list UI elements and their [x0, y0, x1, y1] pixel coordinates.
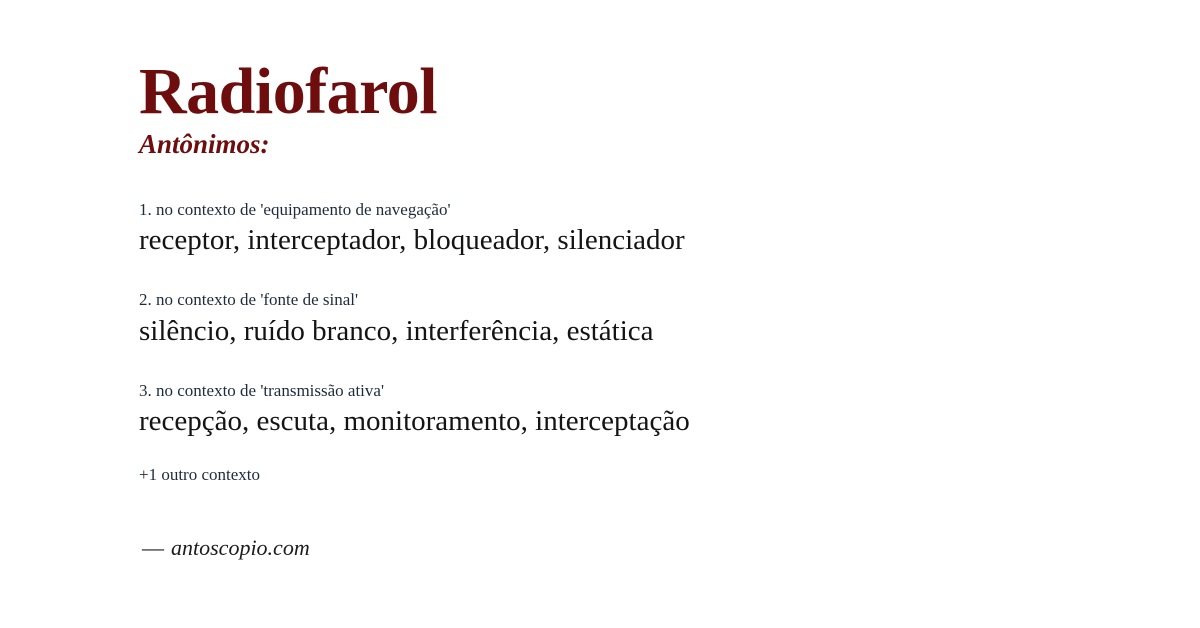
- sense-antonym-list: receptor, interceptador, bloqueador, sil…: [139, 222, 1139, 259]
- attribution: —antoscopio.com: [142, 535, 310, 561]
- attribution-source: antoscopio.com: [171, 535, 310, 560]
- sense-context-label: 3. no contexto de 'transmissão ativa': [139, 380, 1139, 401]
- sense-antonym-list: recepção, escuta, monitoramento, interce…: [139, 403, 1139, 440]
- antonyms-card: Radiofarol Antônimos: 1. no contexto de …: [139, 0, 1139, 628]
- more-contexts-note: +1 outro contexto: [139, 464, 260, 485]
- sense-block: 2. no contexto de 'fonte de sinal' silên…: [139, 289, 1139, 349]
- page-title: Radiofarol: [139, 59, 437, 125]
- sense-list: 1. no contexto de 'equipamento de navega…: [139, 199, 1139, 470]
- sense-antonym-list: silêncio, ruído branco, interferência, e…: [139, 313, 1139, 350]
- sense-context-label: 1. no contexto de 'equipamento de navega…: [139, 199, 1139, 220]
- sense-block: 3. no contexto de 'transmissão ativa' re…: [139, 380, 1139, 440]
- sense-context-label: 2. no contexto de 'fonte de sinal': [139, 289, 1139, 310]
- sense-block: 1. no contexto de 'equipamento de navega…: [139, 199, 1139, 259]
- em-dash-icon: —: [142, 535, 171, 560]
- relation-type-label: Antônimos:: [139, 131, 270, 158]
